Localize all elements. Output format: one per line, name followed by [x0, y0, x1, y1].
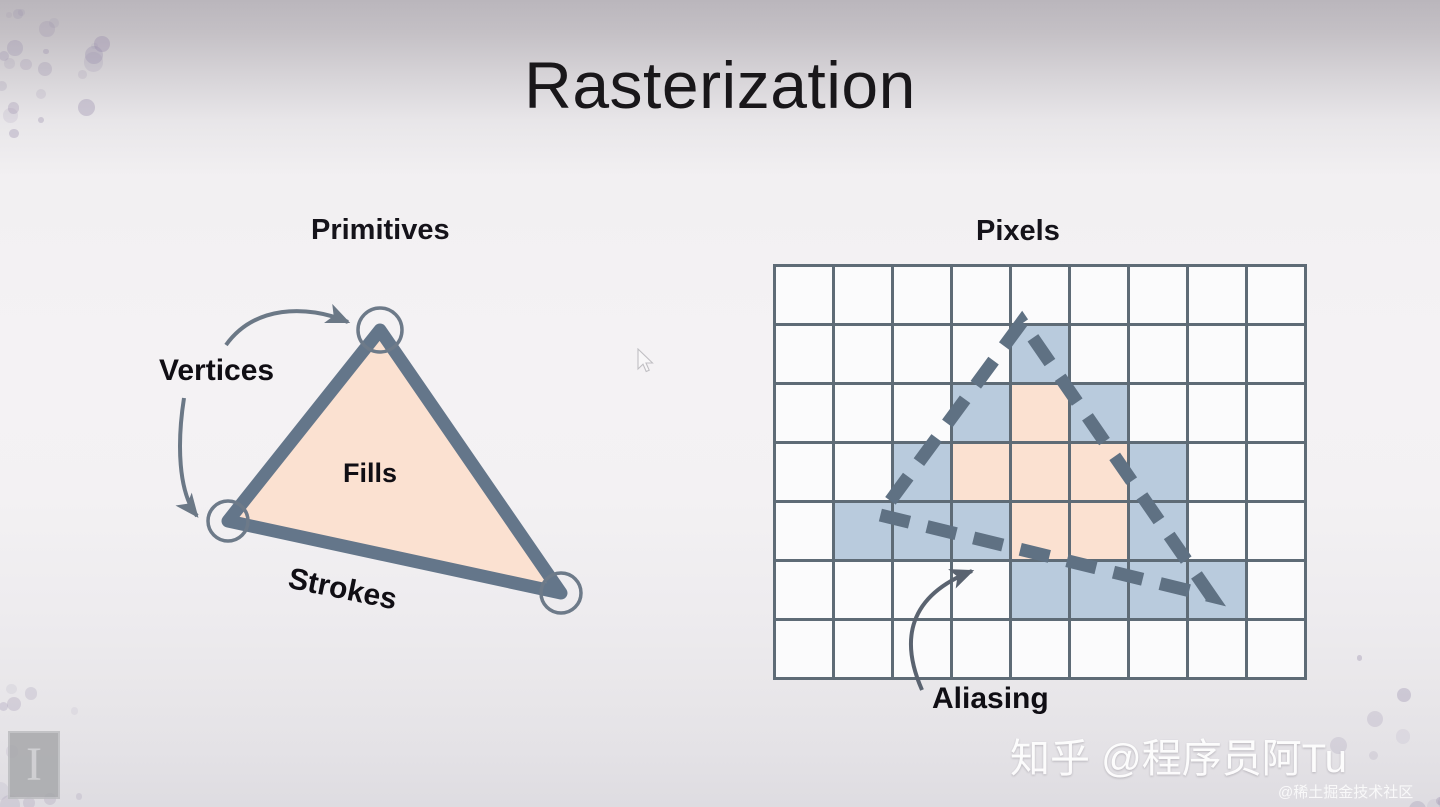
- pixel-cell-r6-c0: [776, 621, 832, 677]
- pixel-cell-r5-c4: [1012, 562, 1068, 618]
- pixel-cell-r3-c4: [1012, 444, 1068, 500]
- pixel-cell-r6-c5: [1071, 621, 1127, 677]
- pixel-cell-r2-c4: [1012, 385, 1068, 441]
- pixel-grid: [773, 264, 1307, 680]
- decorative-dot: [1436, 797, 1440, 805]
- pixel-cell-r4-c7: [1189, 503, 1245, 559]
- label-strokes: Strokes: [285, 562, 400, 617]
- pixel-cell-r3-c2: [894, 444, 950, 500]
- pixel-cell-r3-c7: [1189, 444, 1245, 500]
- pixel-cell-r4-c2: [894, 503, 950, 559]
- decorative-dot: [49, 18, 59, 28]
- pixel-cell-r1-c2: [894, 326, 950, 382]
- pixel-cell-r1-c1: [835, 326, 891, 382]
- pixel-cell-r5-c2: [894, 562, 950, 618]
- slide-canvas: Rasterization Primitives Pixels: [0, 0, 1440, 807]
- pixel-cell-r4-c8: [1248, 503, 1304, 559]
- heading-primitives: Primitives: [311, 214, 450, 247]
- label-aliasing: Aliasing: [932, 682, 1049, 716]
- decorative-dot: [6, 684, 16, 694]
- pixel-cell-r6-c2: [894, 621, 950, 677]
- decorative-dot: [1427, 799, 1440, 807]
- pixel-cell-r6-c7: [1189, 621, 1245, 677]
- pixel-cell-r1-c4: [1012, 326, 1068, 382]
- pixel-cell-r5-c7: [1189, 562, 1245, 618]
- pixel-cell-r0-c5: [1071, 267, 1127, 323]
- pixel-cell-r2-c1: [835, 385, 891, 441]
- pixel-cell-r4-c4: [1012, 503, 1068, 559]
- pixel-cell-r2-c7: [1189, 385, 1245, 441]
- vertex-marker-icon: [208, 501, 248, 541]
- decorative-dot: [1396, 729, 1411, 744]
- pixel-cell-r2-c5: [1071, 385, 1127, 441]
- decorative-dot: [39, 21, 55, 37]
- pixel-cell-r5-c3: [953, 562, 1009, 618]
- pixel-cell-r4-c6: [1130, 503, 1186, 559]
- decorative-dot: [13, 9, 22, 18]
- vertex-marker-icon: [358, 308, 402, 352]
- pixel-cell-r6-c6: [1130, 621, 1186, 677]
- watermark-secondary: @稀土掘金技术社区: [1278, 781, 1413, 802]
- pixel-cell-r2-c2: [894, 385, 950, 441]
- corner-logo-letter: I: [26, 741, 42, 789]
- pixel-cell-r4-c3: [953, 503, 1009, 559]
- pixel-cell-r4-c5: [1071, 503, 1127, 559]
- pixel-cell-r1-c0: [776, 326, 832, 382]
- decorative-dot: [0, 702, 8, 712]
- pixel-cell-r5-c0: [776, 562, 832, 618]
- decorative-dot: [1357, 655, 1363, 661]
- decorative-dot: [71, 707, 78, 714]
- pixel-cell-r5-c5: [1071, 562, 1127, 618]
- watermark-primary: 知乎 @程序员阿Tu: [1010, 726, 1347, 784]
- pixel-cell-r0-c2: [894, 267, 950, 323]
- mouse-pointer-icon: [636, 348, 656, 374]
- pixel-cell-r3-c0: [776, 444, 832, 500]
- pixel-cell-r1-c6: [1130, 326, 1186, 382]
- decorative-dot: [91, 43, 98, 50]
- pixel-cell-r2-c6: [1130, 385, 1186, 441]
- decorative-dot: [18, 9, 25, 16]
- pixel-cell-r2-c0: [776, 385, 832, 441]
- pixel-cell-r1-c8: [1248, 326, 1304, 382]
- decorative-dot: [94, 36, 110, 52]
- pixel-cell-r0-c0: [776, 267, 832, 323]
- pixel-cell-r0-c1: [835, 267, 891, 323]
- pixel-cell-r0-c6: [1130, 267, 1186, 323]
- pixel-cell-r5-c8: [1248, 562, 1304, 618]
- pixel-cell-r6-c8: [1248, 621, 1304, 677]
- decorative-dot: [6, 12, 12, 18]
- pixel-cell-r2-c3: [953, 385, 1009, 441]
- pixel-cell-r6-c4: [1012, 621, 1068, 677]
- pixel-cell-r6-c3: [953, 621, 1009, 677]
- decorative-dot: [76, 793, 83, 800]
- pixel-cell-r2-c8: [1248, 385, 1304, 441]
- pixel-cell-r0-c3: [953, 267, 1009, 323]
- pixel-cell-r4-c1: [835, 503, 891, 559]
- arrow-vertices-to-corner-icon: [180, 398, 197, 516]
- pixel-cell-r0-c8: [1248, 267, 1304, 323]
- vertex-marker-icon: [541, 573, 581, 613]
- label-fills: Fills: [343, 458, 397, 489]
- decorative-dot: [9, 129, 18, 138]
- pixel-cell-r5-c6: [1130, 562, 1186, 618]
- pixel-cell-r0-c7: [1189, 267, 1245, 323]
- decorative-dot: [7, 697, 21, 711]
- decorative-dot: [25, 687, 38, 700]
- pixel-cell-r3-c8: [1248, 444, 1304, 500]
- pixel-cell-r6-c1: [835, 621, 891, 677]
- slide-title: Rasterization: [0, 52, 1440, 118]
- decorative-dot: [1397, 688, 1411, 702]
- pixel-cell-r5-c1: [835, 562, 891, 618]
- pixel-cell-r4-c0: [776, 503, 832, 559]
- decorative-dot: [1367, 711, 1383, 727]
- pixel-cell-r0-c4: [1012, 267, 1068, 323]
- corner-logo: I: [8, 731, 60, 799]
- pixel-cell-r3-c5: [1071, 444, 1127, 500]
- decorative-dot: [38, 117, 44, 123]
- pixel-cell-r1-c7: [1189, 326, 1245, 382]
- label-vertices: Vertices: [159, 354, 274, 388]
- pixel-cell-r3-c3: [953, 444, 1009, 500]
- arrow-vertices-to-apex-icon: [226, 311, 348, 345]
- decorative-dot: [1369, 751, 1378, 760]
- heading-pixels: Pixels: [976, 215, 1060, 248]
- pixel-cell-r1-c3: [953, 326, 1009, 382]
- pixel-cell-r1-c5: [1071, 326, 1127, 382]
- pixel-cell-r3-c1: [835, 444, 891, 500]
- pixel-cell-r3-c6: [1130, 444, 1186, 500]
